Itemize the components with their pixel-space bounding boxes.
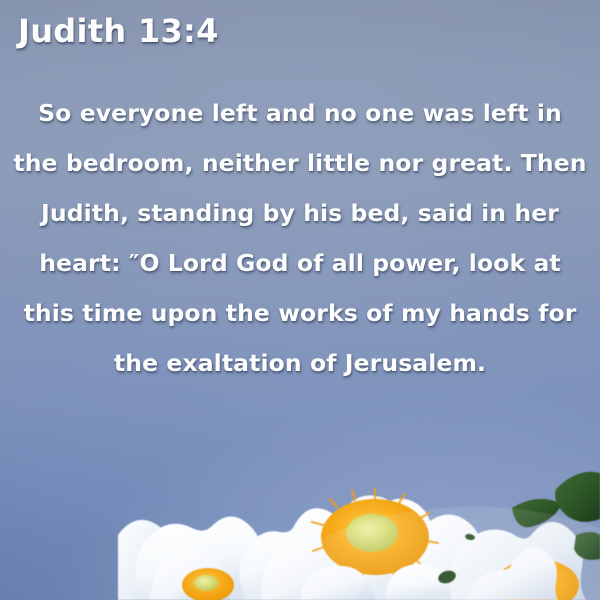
verse-line: this time upon the works of my hands for — [10, 288, 590, 338]
flower-center-left — [194, 575, 218, 591]
flower-photo-foreground — [0, 385, 600, 600]
leaf-right-outer — [555, 472, 600, 522]
page-title: Judith 13:4 — [18, 12, 219, 50]
verse-line: So everyone left and no one was left in — [10, 88, 590, 138]
verse-image-canvas: Judith 13:4 So everyone left and no one … — [0, 0, 600, 600]
verse-line: the exaltation of Jerusalem. — [10, 338, 590, 388]
verse-text: So everyone left and no one was left in … — [10, 88, 590, 388]
flower-cluster — [118, 472, 600, 600]
verse-line: the bedroom, neither little nor great. T… — [10, 138, 590, 188]
verse-line: heart: ″O Lord God of all power, look at — [10, 238, 590, 288]
verse-line: Judith, standing by his bed, said in her — [10, 188, 590, 238]
